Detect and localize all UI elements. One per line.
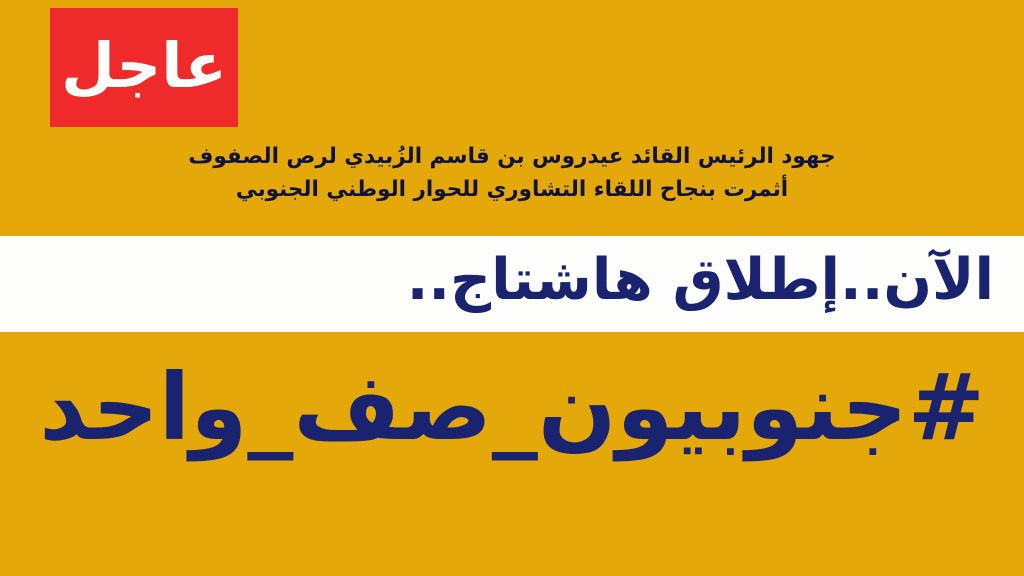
hashtag-block: #جنوبيون_صف_واحد [0,338,1024,478]
breaking-news-badge: عاجل [50,8,238,127]
headline-line-1: جهود الرئيس القائد عيدروس بن قاسم الزُبي… [90,140,934,173]
breaking-news-badge-label: عاجل [61,35,227,97]
announcement-band: الآن..إطلاق هاشتاج.. [0,236,1024,332]
breaking-news-poster: عاجل جهود الرئيس القائد عيدروس بن قاسم ا… [0,0,1024,576]
headline-line-2: أثمرت بنجاح اللقاء التشاوري للحوار الوطن… [90,173,934,206]
headline-block: جهود الرئيس القائد عيدروس بن قاسم الزُبي… [0,140,1024,207]
announcement-band-text: الآن..إطلاق هاشتاج.. [407,251,994,311]
hashtag-text: #جنوبيون_صف_واحد [39,357,985,458]
